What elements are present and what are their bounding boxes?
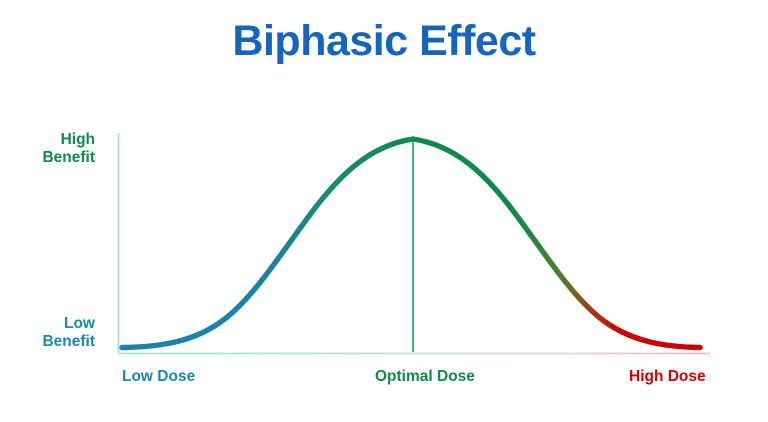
y-axis-label-high-benefit: High Benefit bbox=[42, 131, 95, 168]
y-axis-label-low-benefit: Low Benefit bbox=[42, 315, 95, 352]
y-axis-label-high-benefit-line2: Benefit bbox=[42, 149, 95, 167]
x-axis-label-low-dose: Low Dose bbox=[122, 368, 195, 386]
y-axis-label-high-benefit-line1: High bbox=[42, 131, 95, 149]
benefit-curve bbox=[122, 139, 700, 348]
y-axis-label-low-benefit-line1: Low bbox=[42, 315, 95, 333]
y-axis-label-low-benefit-line2: Benefit bbox=[42, 333, 95, 351]
x-axis-label-optimal-dose: Optimal Dose bbox=[375, 368, 475, 386]
chart-figure: Biphasic Effect bbox=[0, 0, 768, 422]
x-axis-label-high-dose: High Dose bbox=[629, 368, 706, 386]
biphasic-curve-plot bbox=[0, 0, 768, 422]
